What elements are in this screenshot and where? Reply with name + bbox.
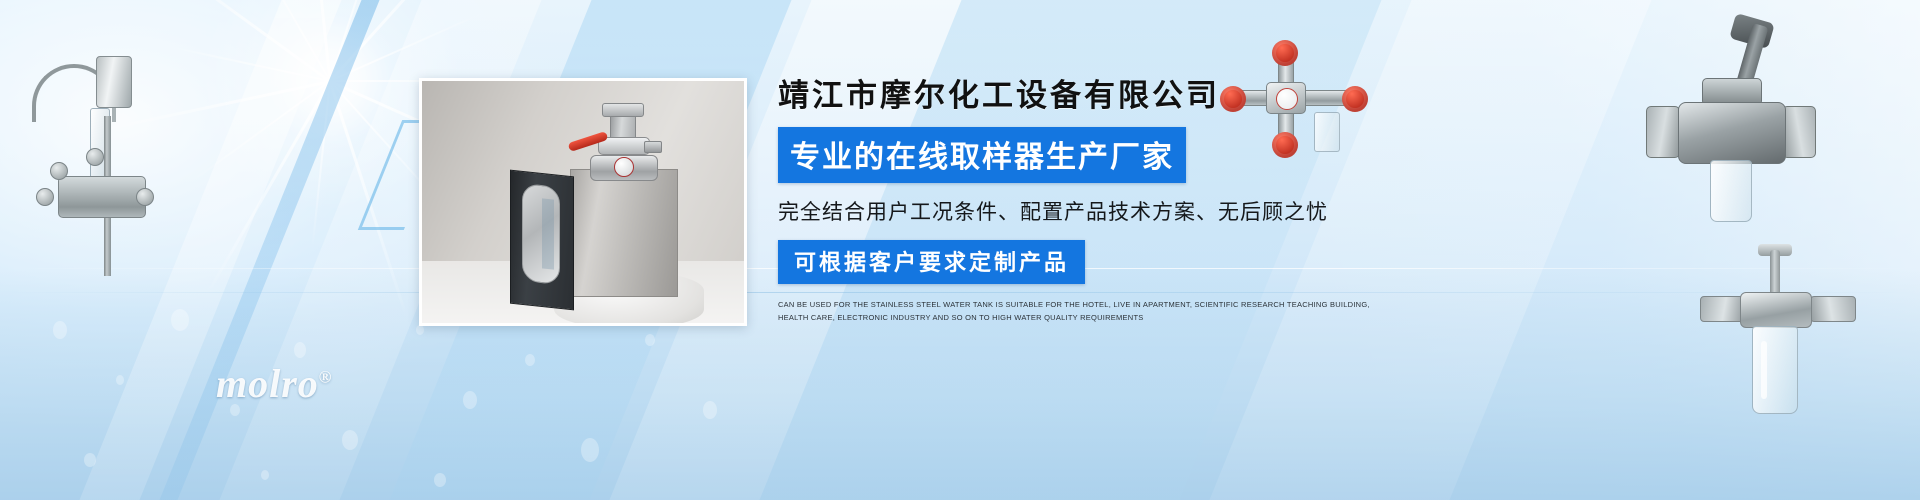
sampler-core-body: [1740, 292, 1812, 328]
red-handwheel-icon: [1272, 132, 1298, 158]
sample-bottle: [1752, 326, 1798, 414]
sampler-knob: [86, 148, 104, 166]
valve-body: [1678, 102, 1786, 164]
watermark-text: molro: [216, 361, 319, 406]
cta-highlight: 可根据客户要求定制产品: [778, 240, 1085, 284]
equipment-red-handle-cross-manifold: [1218, 40, 1368, 150]
red-handwheel-icon: [1272, 40, 1298, 66]
valve-brand-badge: [614, 157, 634, 177]
sample-bottle: [1314, 112, 1340, 152]
sampler-canister: [96, 56, 132, 108]
manifold-brand-badge: [1276, 88, 1298, 110]
sampler-knob: [50, 162, 68, 180]
valve-cap: [602, 103, 644, 117]
headline-highlight: 专业的在线取样器生产厂家: [778, 127, 1186, 183]
sampler-valve-body: [58, 176, 146, 218]
valve-flange-left: [1646, 106, 1680, 158]
english-caption: CAN BE USED FOR THE STAINLESS STEEL WATE…: [778, 298, 1386, 324]
cabinet-door-window: [522, 183, 560, 285]
red-handwheel-icon: [1220, 86, 1246, 112]
equipment-wall-mounted-sampler-assembly: [10, 30, 160, 290]
equipment-lever-valve-sampler: [1640, 20, 1820, 230]
steel-cabinet-body: [570, 169, 678, 297]
watermark-registered-mark: ®: [319, 368, 333, 387]
sample-bottle: [1710, 160, 1752, 222]
watermark-logo: molro®: [216, 360, 333, 407]
sampler-flange-right: [1810, 296, 1856, 322]
equipment-inline-bottle-sampler: [1700, 250, 1860, 430]
valve-flange-right: [1782, 106, 1816, 158]
valve-side-port: [644, 141, 662, 153]
sampler-knob: [36, 188, 54, 206]
product-photo: [419, 78, 747, 326]
sampler-flange-left: [1700, 296, 1744, 322]
red-handwheel-icon: [1342, 86, 1368, 112]
cabinet-door-panel: [542, 198, 554, 269]
promo-banner: 靖江市摩尔化工设备有限公司 专业的在线取样器生产厂家 完全结合用户工况条件、配置…: [0, 0, 1920, 500]
sampler-knob: [136, 188, 154, 206]
sampler-stem: [1770, 250, 1780, 296]
sub-headline: 完全结合用户工况条件、配置产品技术方案、无后顾之忧: [778, 196, 1398, 226]
